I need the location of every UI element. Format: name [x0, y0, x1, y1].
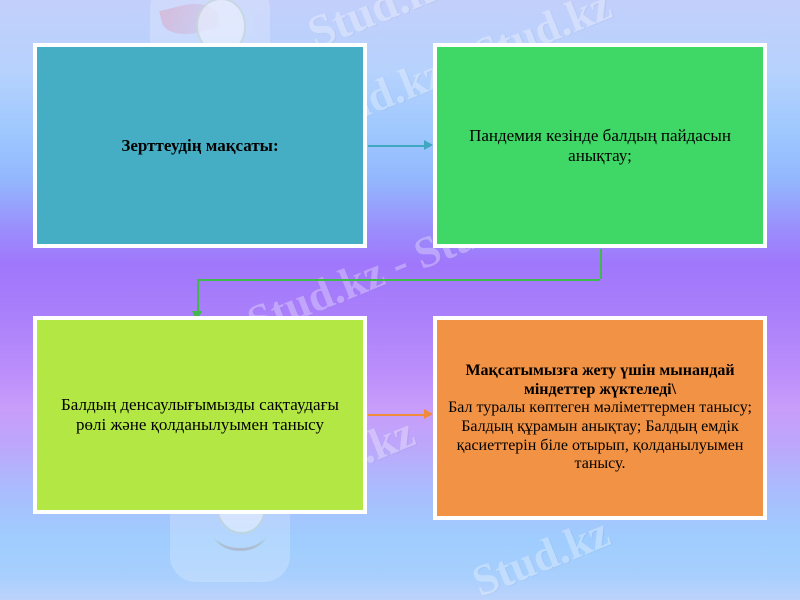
connector-goal-to-pandemic: [368, 145, 432, 157]
connector-role-to-tasks: [368, 414, 432, 426]
box-tasks-content: Мақсатымызға жету үшін мынандай міндетте…: [437, 362, 763, 473]
slide-canvas: Stud.kz Stud.kz - Stud.kz Stud.kz - Stud…: [0, 0, 800, 600]
box-health-role-label: Балдың денсаулығымызды сақтаудағы рөлі ж…: [37, 395, 363, 434]
box-tasks-body: Бал туралы көптеген мәліметтермен танысу…: [448, 399, 752, 472]
connector-line: [368, 145, 430, 147]
box-tasks[interactable]: Мақсатымызға жету үшін мынандай міндетте…: [433, 316, 767, 520]
connector-segment-horizontal: [197, 279, 600, 281]
box-pandemic-benefit[interactable]: Пандемия кезінде балдың пайдасын анықтау…: [433, 43, 767, 248]
arrowhead-icon: [424, 409, 433, 419]
box-health-role[interactable]: Балдың денсаулығымызды сақтаудағы рөлі ж…: [33, 316, 367, 514]
box-research-goal-label: Зерттеудің мақсаты:: [111, 136, 288, 156]
arrowhead-icon: [424, 140, 433, 150]
connector-pandemic-to-role: [197, 249, 602, 325]
watermark-text: Stud.kz: [465, 506, 617, 600]
box-tasks-heading: Мақсатымызға жету үшін мынандай міндетте…: [447, 362, 753, 399]
connector-segment-vertical: [197, 279, 199, 313]
connector-segment-vertical: [600, 249, 602, 279]
connector-line: [368, 414, 430, 416]
box-research-goal[interactable]: Зерттеудің мақсаты:: [33, 43, 367, 248]
box-pandemic-benefit-label: Пандемия кезінде балдың пайдасын анықтау…: [437, 126, 763, 165]
